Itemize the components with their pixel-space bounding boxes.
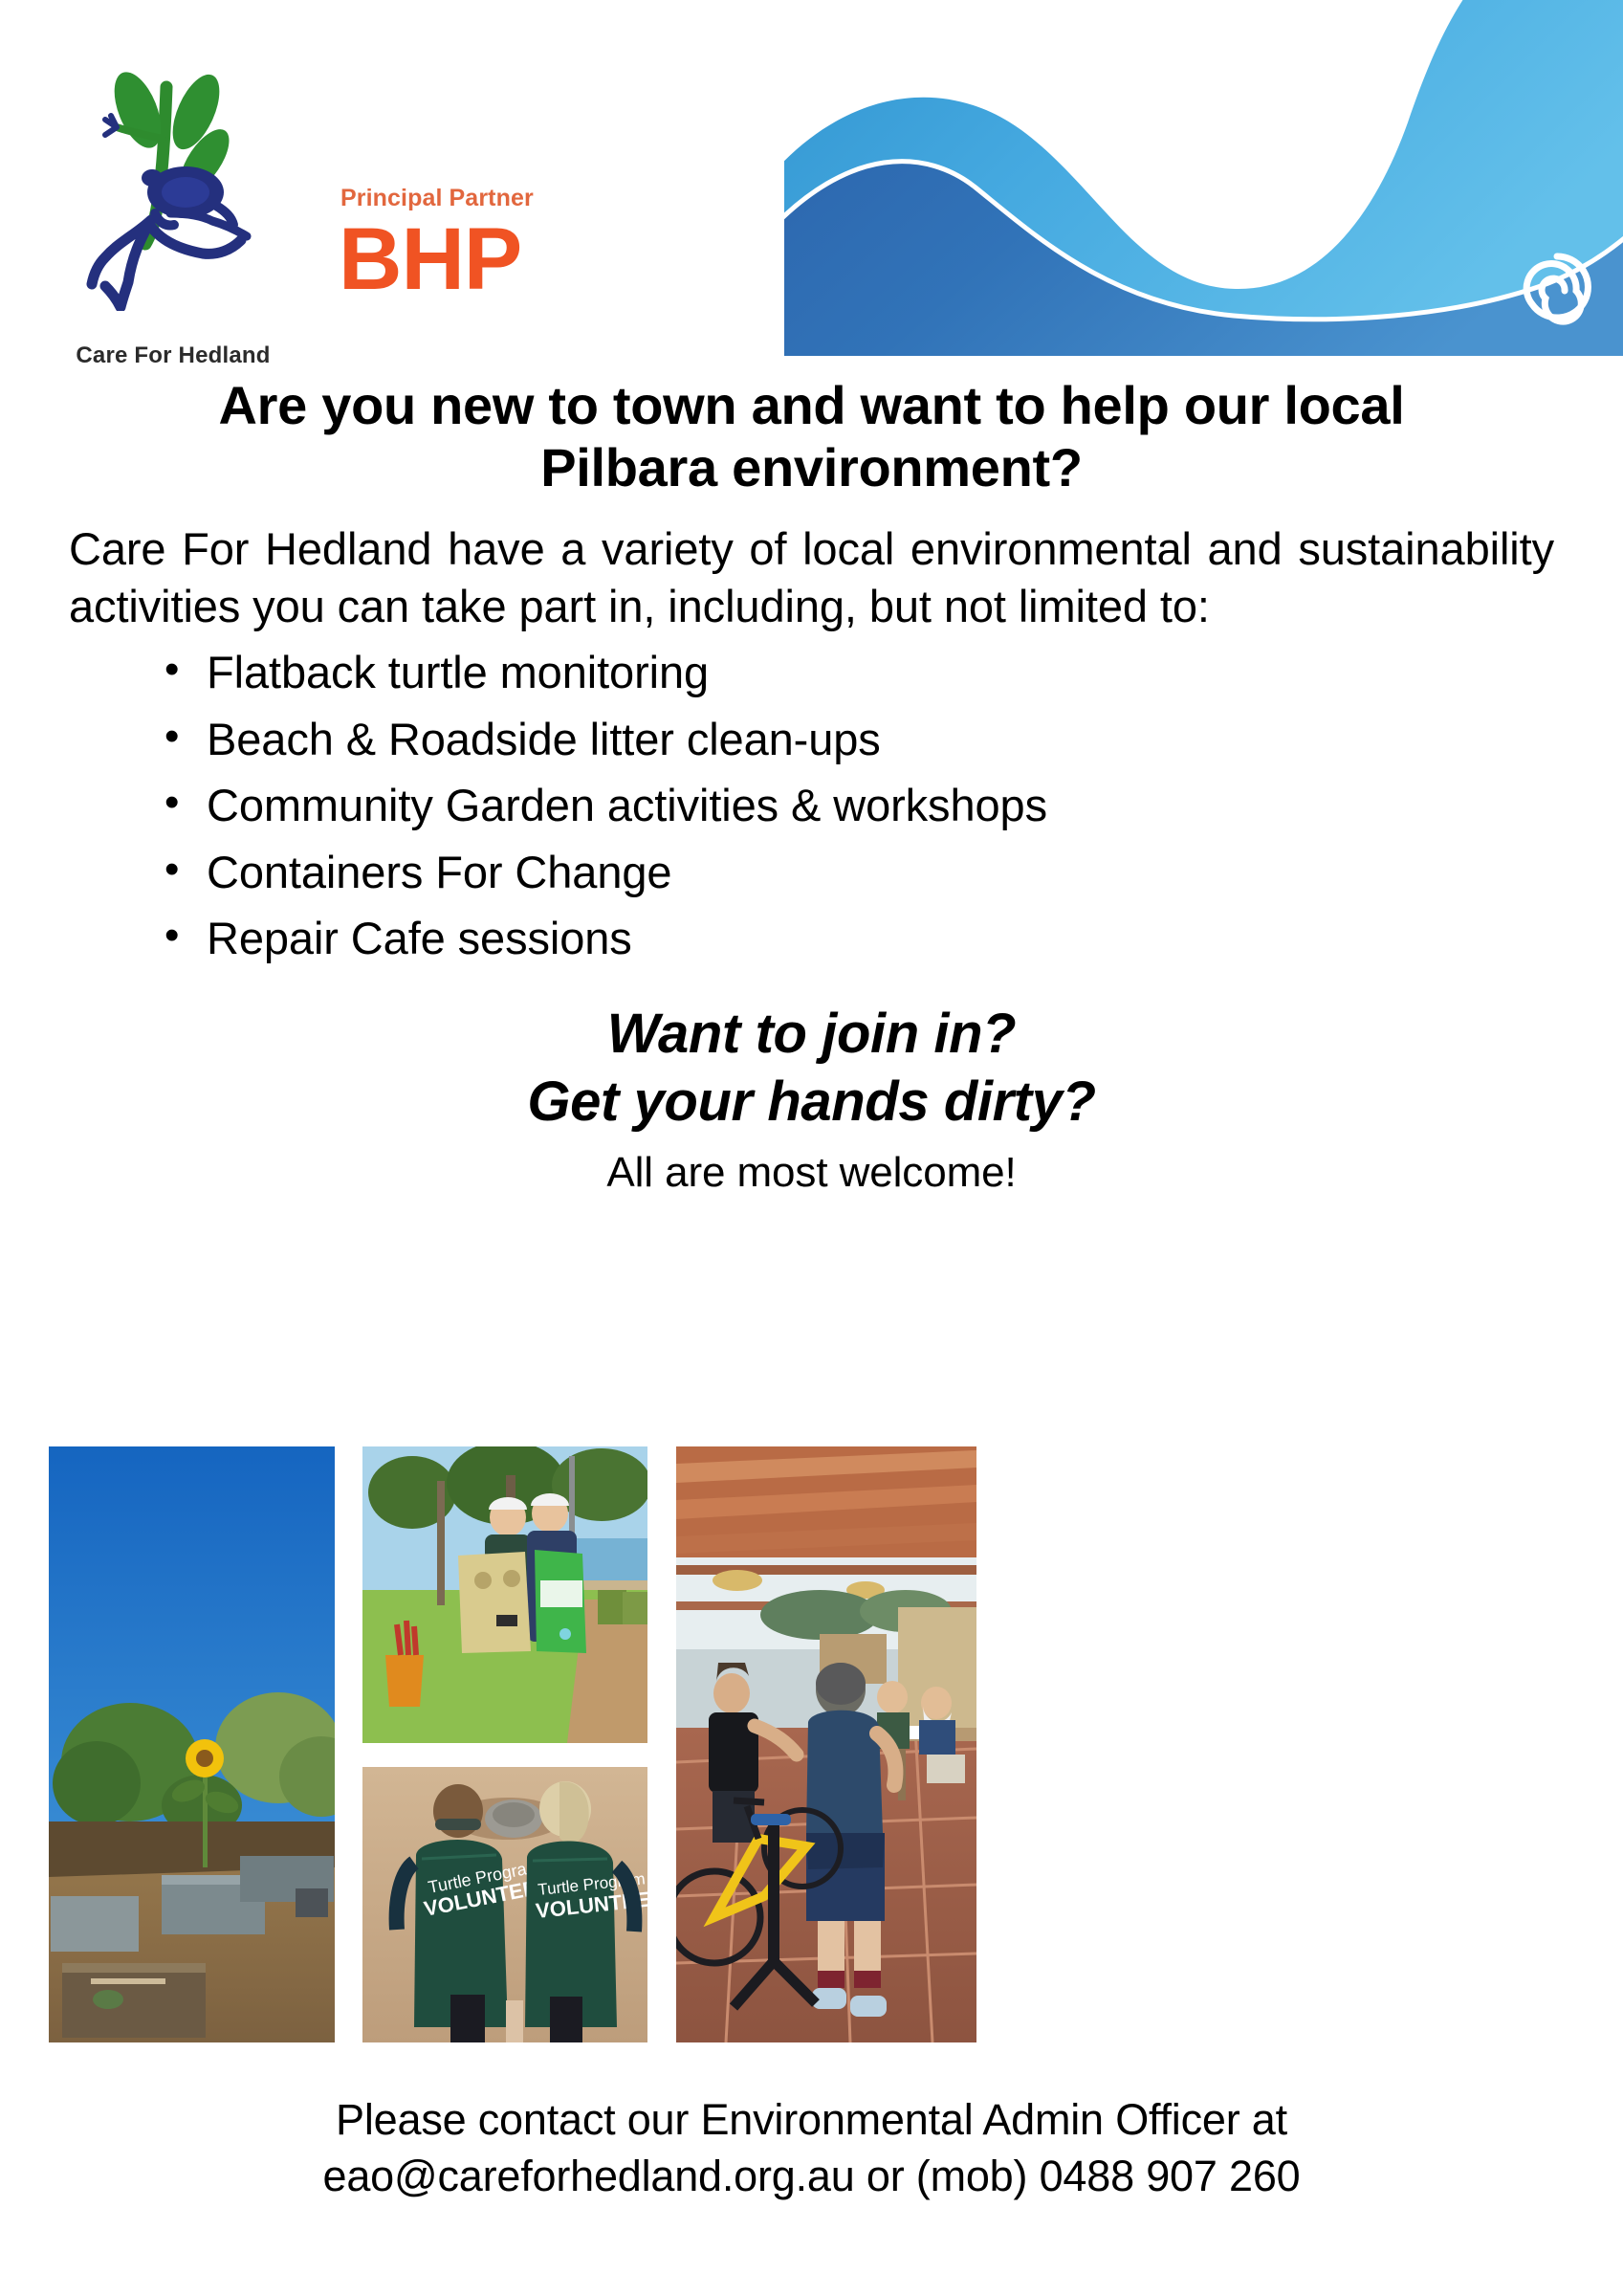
list-item: Beach & Roadside litter clean-ups (157, 706, 1554, 773)
photo-repair-cafe (676, 1446, 976, 2042)
photo-turtle-monitoring: Turtle Program VOLUNTEER Turtle Program … (362, 1767, 647, 2042)
list-item: Containers For Change (157, 839, 1554, 906)
care-for-hedland-logo: Care For Hedland Principal Partner BHP (63, 53, 560, 340)
lead-paragraph: Care For Hedland have a variety of local… (69, 520, 1554, 635)
flyer-header: Care For Hedland Principal Partner BHP (0, 0, 1623, 356)
flyer-body: Are you new to town and want to help our… (0, 375, 1623, 1197)
welcome-message: All are most welcome! (69, 1149, 1554, 1197)
photo-litter-cleanup (362, 1446, 647, 1743)
cta-line-join: Want to join in? (69, 1001, 1554, 1069)
wave-banner-icon (784, 0, 1623, 356)
contact-line-1: Please contact our Environmental Admin O… (115, 2091, 1508, 2148)
photo-community-garden (49, 1446, 335, 2042)
flyer-page: Care For Hedland Principal Partner BHP A… (0, 0, 1623, 2296)
principal-partner-label: Principal Partner (340, 187, 541, 210)
list-item: Flatback turtle monitoring (157, 639, 1554, 706)
activities-list: Flatback turtle monitoring Beach & Roads… (69, 639, 1554, 972)
list-item: Community Garden activities & workshops (157, 772, 1554, 839)
cta-line-hands-dirty: Get your hands dirty? (69, 1069, 1554, 1137)
mangrove-seedling-turtle-icon (63, 53, 274, 311)
contact-line-2: eao@careforhedland.org.au or (mob) 0488 … (115, 2148, 1508, 2204)
photo-gallery: Turtle Program VOLUNTEER Turtle Program … (0, 1446, 1623, 2044)
bhp-wordmark: BHP (339, 216, 541, 302)
contact-footer: Please contact our Environmental Admin O… (0, 2091, 1623, 2205)
bhp-partner-logo: Principal Partner BHP (283, 187, 541, 302)
organisation-name: Care For Hedland (63, 342, 283, 369)
list-item: Repair Cafe sessions (157, 905, 1554, 972)
call-to-action: Want to join in? Get your hands dirty? (69, 1001, 1554, 1137)
page-title: Are you new to town and want to help our… (69, 375, 1554, 499)
